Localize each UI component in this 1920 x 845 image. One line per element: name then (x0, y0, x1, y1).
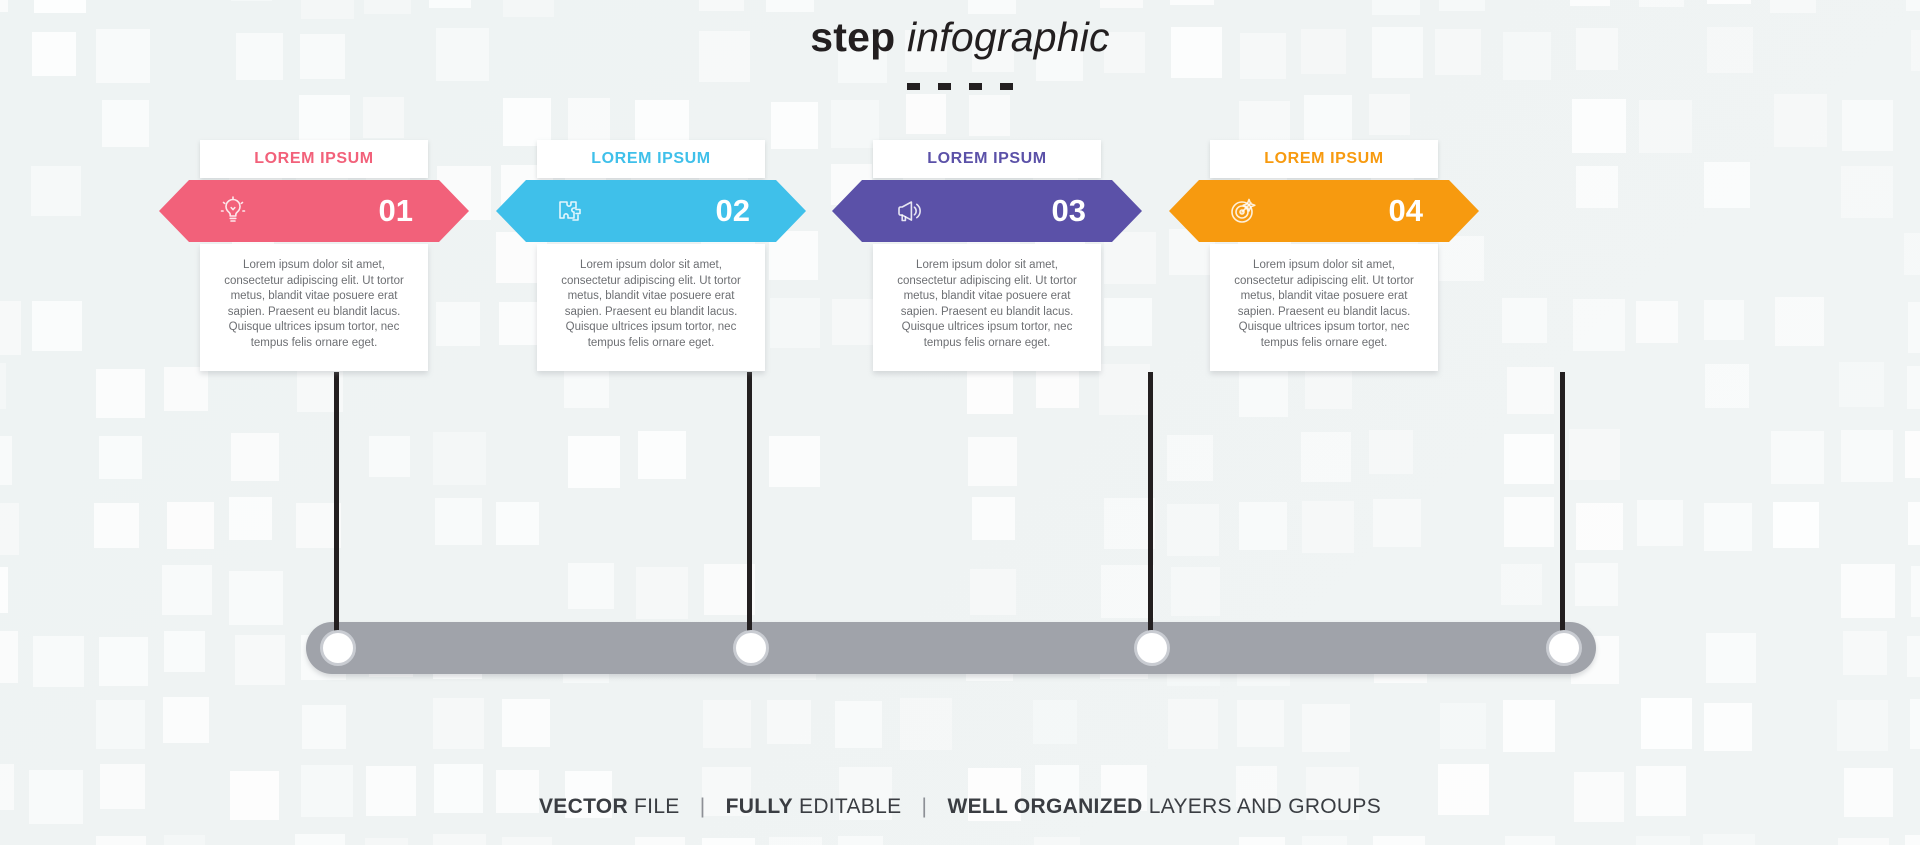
step-banner: 01 (159, 180, 469, 242)
step-description: Lorem ipsum dolor sit amet, consectetur … (1228, 258, 1420, 351)
step-card[interactable]: LOREM IPSUM02Lorem ipsum dolor sit amet,… (537, 140, 765, 371)
step-header: LOREM IPSUM (873, 140, 1101, 178)
step-description: Lorem ipsum dolor sit amet, consectetur … (555, 258, 747, 351)
step-card[interactable]: LOREM IPSUM01Lorem ipsum dolor sit amet,… (200, 140, 428, 371)
puzzle-icon (554, 195, 586, 227)
banner-shape (496, 180, 806, 242)
step-description: Lorem ipsum dolor sit amet, consectetur … (891, 258, 1083, 351)
step-header: LOREM IPSUM (200, 140, 428, 178)
step-body: Lorem ipsum dolor sit amet, consectetur … (200, 244, 428, 371)
banner-shape (1169, 180, 1479, 242)
step-description: Lorem ipsum dolor sit amet, consectetur … (218, 258, 410, 351)
title-dot (969, 83, 982, 90)
step-number: 02 (716, 180, 750, 242)
background-pattern (0, 0, 1920, 845)
title-dot (907, 83, 920, 90)
footer-item-1: VECTOR FILE (539, 795, 680, 818)
timeline-node[interactable] (1134, 630, 1170, 666)
step-connector (1148, 372, 1153, 648)
step-body: Lorem ipsum dolor sit amet, consectetur … (1210, 244, 1438, 371)
step-connector (334, 372, 339, 648)
step-label: LOREM IPSUM (1264, 150, 1384, 168)
footer-bar: VECTOR FILE | FULLY EDITABLE | WELL ORGA… (0, 795, 1920, 819)
footer-item-3: WELL ORGANIZED LAYERS AND GROUPS (947, 795, 1381, 818)
step-body: Lorem ipsum dolor sit amet, consectetur … (537, 244, 765, 371)
lightbulb-icon (217, 195, 249, 227)
step-connector (1560, 372, 1565, 648)
timeline-node[interactable] (733, 630, 769, 666)
banner-shape (832, 180, 1142, 242)
title-dot (1000, 83, 1013, 90)
step-banner: 02 (496, 180, 806, 242)
step-card[interactable]: LOREM IPSUM03Lorem ipsum dolor sit amet,… (873, 140, 1101, 371)
footer-item-2: FULLY EDITABLE (726, 795, 902, 818)
step-body: Lorem ipsum dolor sit amet, consectetur … (873, 244, 1101, 371)
step-header: LOREM IPSUM (537, 140, 765, 178)
title-dot (938, 83, 951, 90)
timeline-bar (306, 622, 1596, 674)
target-icon (1227, 195, 1259, 227)
timeline-node[interactable] (320, 630, 356, 666)
banner-shape (159, 180, 469, 242)
step-banner: 03 (832, 180, 1142, 242)
title-bold-part: step (810, 14, 895, 60)
step-number: 04 (1389, 180, 1423, 242)
step-card[interactable]: LOREM IPSUM04Lorem ipsum dolor sit amet,… (1210, 140, 1438, 371)
infographic-canvas: step infographic LOREM IPSUM01Lorem ipsu… (0, 0, 1920, 845)
step-label: LOREM IPSUM (591, 150, 711, 168)
step-header: LOREM IPSUM (1210, 140, 1438, 178)
step-banner: 04 (1169, 180, 1479, 242)
step-number: 01 (379, 180, 413, 242)
timeline-node[interactable] (1546, 630, 1582, 666)
step-label: LOREM IPSUM (254, 150, 374, 168)
title-italic-part: infographic (895, 14, 1109, 60)
title-dots (0, 78, 1920, 96)
step-connector (747, 372, 752, 648)
footer-separator-1: | (700, 795, 706, 818)
megaphone-icon (890, 195, 922, 227)
footer-separator-2: | (922, 795, 928, 818)
step-label: LOREM IPSUM (927, 150, 1047, 168)
step-number: 03 (1052, 180, 1086, 242)
page-title: step infographic (0, 14, 1920, 61)
